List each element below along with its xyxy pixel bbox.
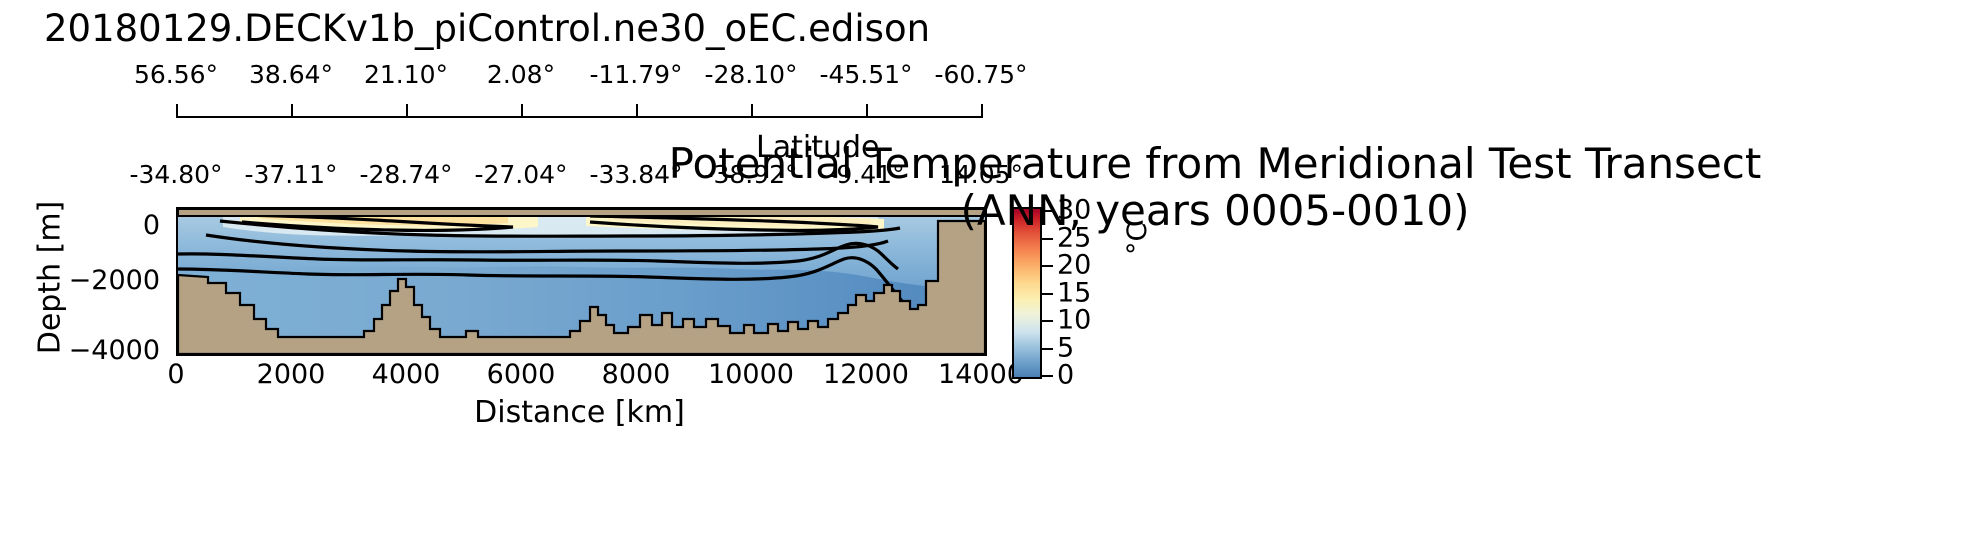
colorbar-tick — [1042, 348, 1053, 350]
longitude-ticklabels: -34.80° -37.11° -28.74° -27.04° -33.84° … — [0, 160, 1986, 190]
colorbar-ticklabel: 20 — [1057, 250, 1091, 281]
y-ticklabel: 0 — [80, 210, 160, 241]
colorbar-ticklabel: 0 — [1057, 360, 1074, 391]
latitude-ticklabel: 56.56° — [134, 60, 218, 89]
y-tick — [176, 351, 178, 353]
longitude-ticklabel: -33.84° — [589, 160, 682, 189]
colorbar-unit-label: °C — [1122, 223, 1153, 255]
colorbar-tick — [1042, 320, 1053, 322]
latitude-ticklabel: -11.79° — [589, 60, 682, 89]
colorbar-ticklabel: 10 — [1057, 305, 1091, 336]
longitude-ticklabel: -37.11° — [244, 160, 337, 189]
temperature-section-image — [178, 209, 985, 354]
x-ticklabel: 2000 — [257, 359, 326, 390]
x-ticklabel: 6000 — [487, 359, 556, 390]
latitude-ticklabel: 21.10° — [364, 60, 448, 89]
latitude-ticklabel: 2.08° — [487, 60, 555, 89]
x-tick — [983, 355, 985, 356]
latitude-ticklabel: -60.75° — [934, 60, 1027, 89]
x-tick — [868, 355, 870, 356]
figure-canvas: 20180129.DECKv1b_piControl.ne30_oEC.edis… — [0, 0, 1986, 553]
colorbar: 30 25 20 15 10 5 0 °C — [1012, 207, 1042, 379]
latitude-ticklabel: -45.51° — [819, 60, 912, 89]
x-tick — [178, 355, 180, 356]
longitude-ticklabel: -27.04° — [474, 160, 567, 189]
longitude-ticklabel: -38.92° — [704, 160, 797, 189]
transect-plot-area — [176, 207, 987, 356]
x-tick — [293, 355, 295, 356]
x-ticklabel: 0 — [167, 359, 184, 390]
colorbar-tick — [1042, 265, 1053, 267]
x-ticklabel: 12000 — [823, 359, 909, 390]
colorbar-ticklabel: 30 — [1057, 195, 1091, 226]
surface-land-strip — [178, 209, 985, 216]
colorbar-tick — [1042, 238, 1053, 240]
longitude-axis: Longitude — [176, 110, 983, 124]
x-axis-label: Distance [km] — [176, 395, 983, 430]
longitude-ticklabel: 14.05° — [939, 160, 1023, 189]
longitude-ticklabel: -28.74° — [359, 160, 452, 189]
x-tick — [408, 355, 410, 356]
longitude-ticklabel: -9.41° — [827, 160, 904, 189]
x-tick — [638, 355, 640, 356]
x-tick — [753, 355, 755, 356]
latitude-ticklabel: -28.10° — [704, 60, 797, 89]
figure-suptitle: 20180129.DECKv1b_piControl.ne30_oEC.edis… — [44, 10, 930, 49]
colorbar-tick — [1042, 210, 1053, 212]
y-tick — [176, 281, 178, 283]
x-ticklabel: 10000 — [708, 359, 794, 390]
y-tick — [176, 212, 178, 214]
x-tick — [523, 355, 525, 356]
colorbar-tick — [1042, 293, 1053, 295]
colorbar-gradient — [1012, 207, 1042, 379]
latitude-ticklabels: 56.56° 38.64° 21.10° 2.08° -11.79° -28.1… — [0, 60, 1986, 90]
longitude-ticklabel: -34.80° — [129, 160, 222, 189]
x-ticklabel: 4000 — [372, 359, 441, 390]
colorbar-tick — [1042, 375, 1053, 377]
x-ticklabel: 8000 — [602, 359, 671, 390]
latitude-ticklabel: 38.64° — [249, 60, 333, 89]
y-axis-label: Depth [m] — [33, 168, 68, 388]
